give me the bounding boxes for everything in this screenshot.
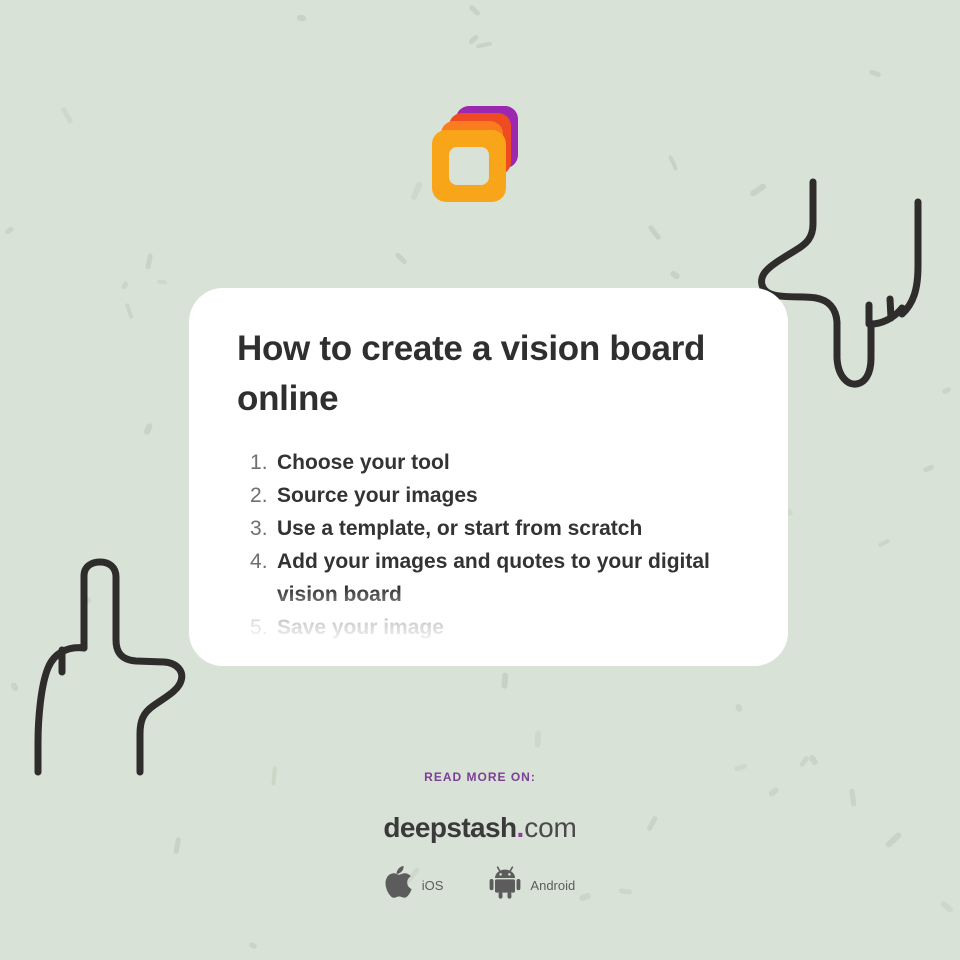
- list-item: Add your images and quotes to your digit…: [237, 545, 744, 611]
- speck: [668, 155, 679, 171]
- store-label-ios: iOS: [422, 878, 444, 893]
- speck: [468, 4, 481, 17]
- store-label-android: Android: [530, 878, 575, 893]
- speck: [767, 786, 779, 797]
- store-badge-android[interactable]: Android: [489, 866, 575, 904]
- logo-center-hole: [449, 147, 489, 185]
- speck: [501, 673, 508, 689]
- speck: [124, 303, 133, 320]
- list-item: Choose your tool: [237, 446, 744, 479]
- speck: [248, 942, 257, 950]
- speck: [81, 597, 91, 605]
- speck: [468, 34, 480, 45]
- speck: [799, 755, 810, 768]
- deepstash-logo: [430, 104, 520, 196]
- store-badges: iOS Android: [0, 866, 960, 904]
- speck: [735, 703, 744, 713]
- speck: [121, 281, 129, 290]
- speck: [923, 464, 935, 473]
- store-badge-ios[interactable]: iOS: [385, 866, 444, 904]
- steps-list: Choose your tool Source your images Use …: [237, 446, 744, 644]
- speck: [941, 386, 952, 395]
- speck: [10, 681, 20, 692]
- content-card: How to create a vision board online Choo…: [189, 288, 788, 666]
- apple-icon: [385, 866, 413, 904]
- speck: [849, 788, 856, 806]
- speck: [143, 422, 153, 436]
- speck: [647, 224, 661, 241]
- speck: [534, 730, 540, 748]
- pointing-hand-left-illustration: [24, 558, 210, 780]
- android-icon: [489, 866, 521, 904]
- speck: [669, 270, 681, 280]
- brand-name: deepstash: [383, 812, 516, 843]
- speck: [4, 226, 14, 235]
- speck: [476, 41, 493, 49]
- speck: [394, 252, 408, 266]
- list-item: Use a template, or start from scratch: [237, 512, 744, 545]
- speck: [878, 539, 890, 548]
- poster-canvas: How to create a vision board online Choo…: [0, 0, 960, 960]
- speck: [145, 253, 152, 270]
- speck: [61, 106, 74, 124]
- read-more-label: READ MORE ON:: [0, 770, 960, 784]
- speck: [868, 69, 881, 78]
- speck: [410, 181, 423, 201]
- list-item: Save your image: [237, 611, 744, 644]
- list-item: Source your images: [237, 479, 744, 512]
- brand-tld: com: [524, 812, 576, 843]
- speck: [749, 182, 767, 197]
- speck: [297, 14, 307, 21]
- speck: [808, 754, 819, 766]
- page-title: How to create a vision board online: [237, 324, 744, 424]
- brand-wordmark: deepstash.com: [0, 812, 960, 844]
- speck: [157, 279, 168, 284]
